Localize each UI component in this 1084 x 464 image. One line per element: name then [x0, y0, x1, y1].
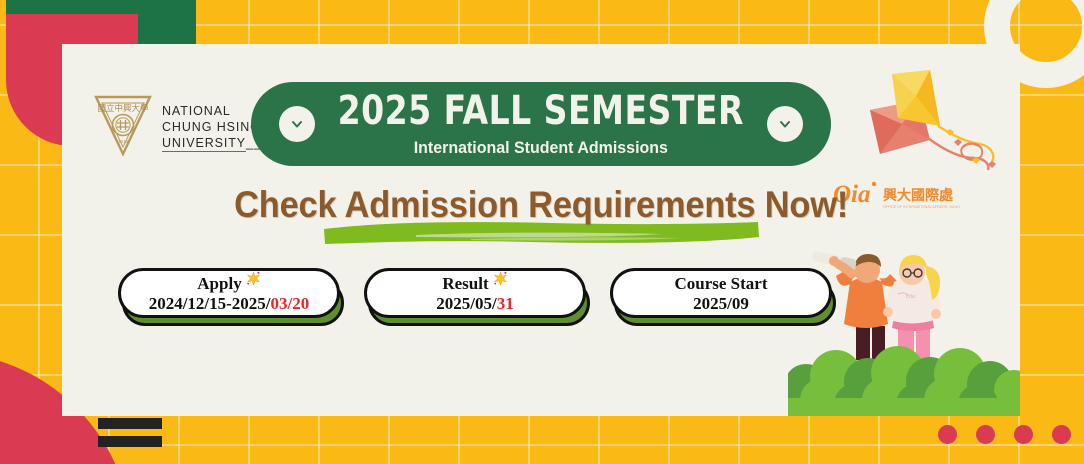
headline-text: Check Admission Requirements Now!	[234, 186, 848, 225]
oia-logo: Oia 興大國際處 OFFICE OF INTERNATIONAL AFFAIR…	[833, 178, 973, 212]
timeline-pills: Apply 2024/12/15-2025/03/20	[62, 268, 852, 326]
chevron-down-icon-right[interactable]	[767, 106, 803, 142]
banner-subtitle: International Student Admissions	[333, 138, 748, 158]
pill-date-highlight: 31	[497, 294, 514, 313]
pill-face: Result 2025/05/31	[364, 268, 586, 318]
pill-date: 2025/05/31	[436, 295, 513, 312]
kite-illustration	[862, 62, 1010, 180]
student-waving: Oia	[883, 255, 941, 360]
pill-date: 2024/12/15-2025/03/20	[149, 295, 310, 312]
chevron-down-icon-left[interactable]	[279, 106, 315, 142]
banner-title: 2025 FALL SEMESTER	[338, 91, 744, 131]
students-illustration: Oia	[788, 248, 1020, 416]
pill-face: Apply 2024/12/15-2025/03/20	[118, 268, 340, 318]
sparkle-icon	[493, 271, 508, 286]
svg-text:1919: 1919	[118, 139, 128, 144]
decor-bar	[98, 418, 162, 429]
decor-dot	[938, 425, 957, 444]
pill-date-normal: 2025/05/	[436, 294, 496, 313]
svg-text:國立中興大學: 國立中興大學	[97, 103, 149, 114]
decor-dot	[1014, 425, 1033, 444]
pill-label: Apply	[197, 275, 241, 292]
decor-dot	[976, 425, 995, 444]
decor-dots	[938, 425, 1071, 444]
sparkle-icon	[246, 271, 261, 286]
title-text-group: 2025 FALL SEMESTER International Student…	[320, 91, 762, 158]
university-logo: 國立中興大學 1919 NATIONAL CHUNG HSING UNIVERS…	[92, 86, 262, 168]
decor-dot	[1052, 425, 1071, 444]
pill-label-row: Course Start	[674, 275, 767, 292]
timeline-pill-result[interactable]: Result 2025/05/31	[364, 268, 592, 326]
timeline-pill-apply[interactable]: Apply 2024/12/15-2025/03/20	[118, 268, 346, 326]
pill-label: Result	[442, 275, 488, 292]
title-banner: 2025 FALL SEMESTER International Student…	[251, 82, 831, 166]
pill-label-row: Result	[442, 275, 507, 292]
university-name-line3: UNIVERSITY	[162, 136, 246, 152]
nchu-seal-icon: 國立中興大學 1919	[92, 92, 154, 162]
oia-chinese: 興大國際處	[883, 187, 954, 204]
student-with-telescope	[811, 251, 898, 360]
svg-text:Oia: Oia	[906, 294, 915, 300]
decor-bar	[98, 436, 162, 447]
pill-date: 2025/09	[693, 295, 749, 312]
oia-subtitle: OFFICE OF INTERNATIONAL AFFAIRS, NCHU	[883, 205, 960, 209]
pill-label: Course Start	[674, 275, 767, 292]
pill-date-highlight: 03/20	[271, 294, 310, 313]
banner-stage: 國立中興大學 1919 NATIONAL CHUNG HSING UNIVERS…	[0, 0, 1084, 464]
bushes	[788, 346, 1020, 416]
pill-date-normal: 2025/09	[693, 294, 749, 313]
pill-date-normal: 2024/12/15-2025/	[149, 294, 271, 313]
pill-label-row: Apply	[197, 275, 260, 292]
